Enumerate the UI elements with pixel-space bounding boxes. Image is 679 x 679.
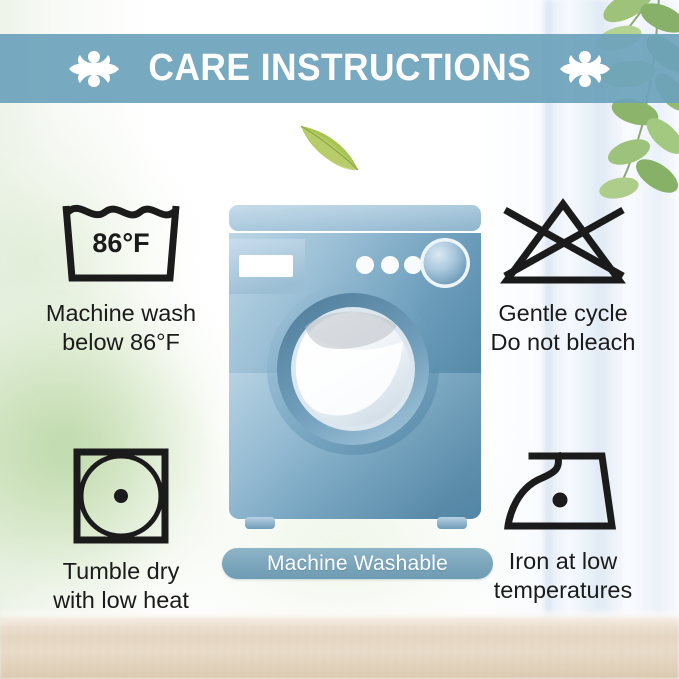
tumble-dry-square-icon: [12, 446, 230, 551]
fleur-de-lis-icon-left: [68, 47, 120, 91]
wash-tub-icon: 86°F: [12, 196, 230, 293]
floating-leaf-icon: [296, 120, 366, 176]
indicator-lights: [356, 256, 422, 274]
header-banner: CARE INSTRUCTIONS: [0, 34, 679, 103]
care-symbol-do-not-bleach: Gentle cycle Do not bleach: [452, 196, 674, 357]
washer-door: [267, 283, 439, 455]
washing-machine-illustration: [227, 203, 483, 533]
machine-washable-badge: Machine Washable: [222, 548, 493, 579]
background-table-grain: [0, 626, 679, 679]
page-title: CARE INSTRUCTIONS: [148, 47, 531, 90]
control-knob: [420, 238, 470, 288]
care-symbol-iron: Iron at low temperatures: [452, 446, 674, 605]
care-symbol-machine-wash: 86°F Machine wash below 86°F: [12, 196, 230, 357]
machine-washable-label: Machine Washable: [267, 552, 448, 576]
detergent-drawer: [229, 239, 305, 294]
triangle-crossed-out-icon: [452, 196, 674, 293]
care-symbol-tumble-dry: Tumble dry with low heat: [12, 446, 230, 615]
care-instructions-graphic: CARE INSTRUCTIONS 86°F Machine wash belo…: [0, 0, 679, 679]
care-symbol-caption: Gentle cycle Do not bleach: [452, 299, 674, 357]
care-symbol-caption: Tumble dry with low heat: [12, 557, 230, 615]
iron-icon: [452, 446, 674, 541]
care-symbol-caption: Machine wash below 86°F: [12, 299, 230, 357]
wash-temperature-label: 86°F: [92, 228, 149, 258]
fleur-de-lis-icon-right: [559, 47, 611, 91]
